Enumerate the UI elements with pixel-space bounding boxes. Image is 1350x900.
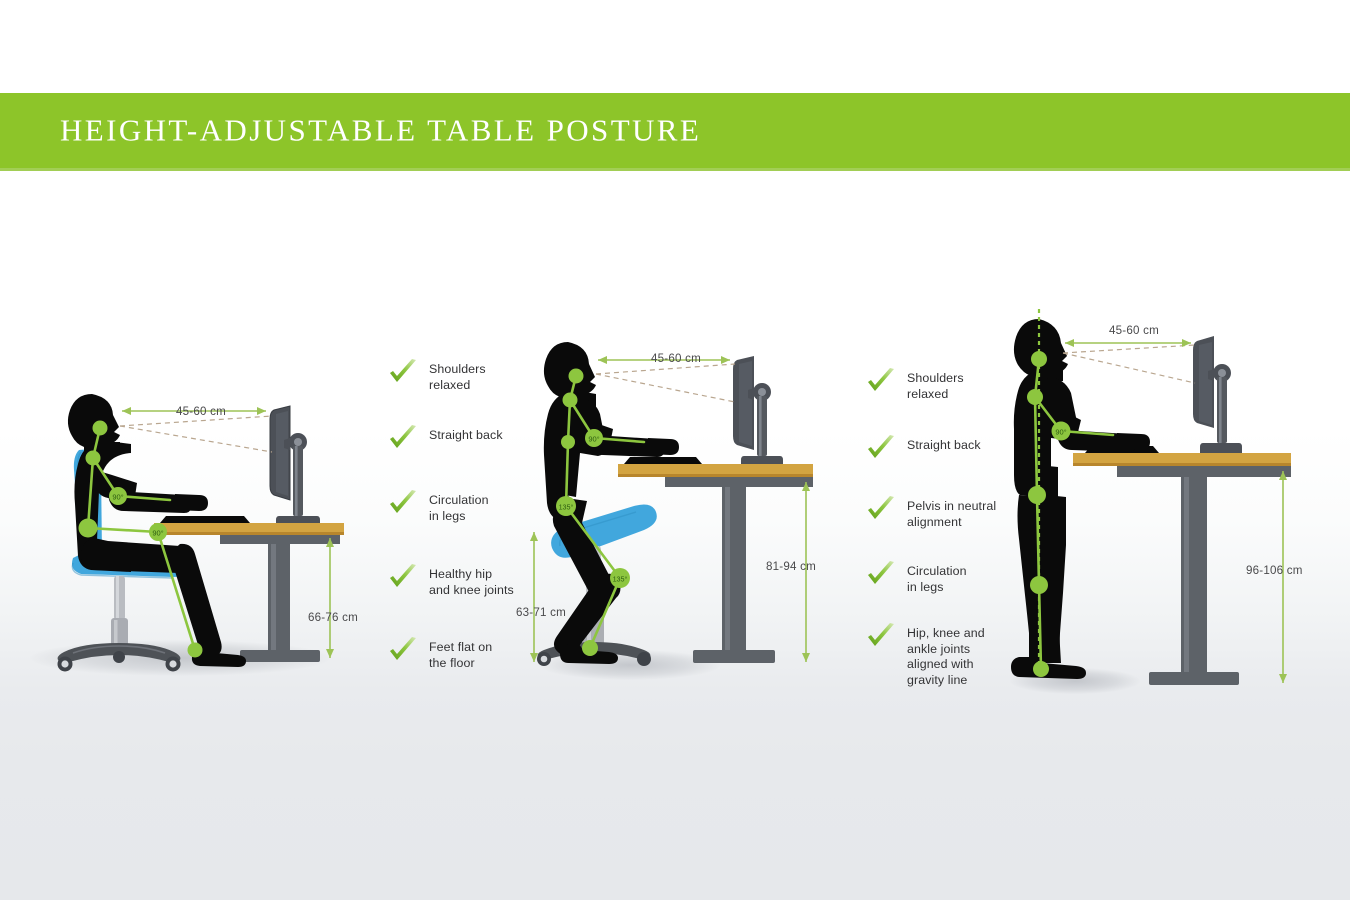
perched-posture-illustration: 90° 135° 135° bbox=[530, 330, 860, 675]
check-icon bbox=[866, 434, 896, 464]
check-label: Circulation in legs bbox=[429, 493, 489, 524]
check-icon bbox=[866, 560, 896, 590]
infographic-canvas: HEIGHT-ADJUSTABLE TABLE POSTURE bbox=[0, 0, 1350, 900]
check-item: Hip, knee and ankle joints aligned with … bbox=[866, 626, 985, 688]
check-icon bbox=[388, 636, 418, 666]
standing-desk-height-label: 96-106 cm bbox=[1246, 564, 1303, 577]
sight-lines bbox=[120, 416, 272, 452]
seated-distance-label: 45-60 cm bbox=[176, 405, 226, 418]
elbow-angle-label: 90° bbox=[112, 493, 123, 502]
check-label: Shoulders relaxed bbox=[907, 371, 964, 402]
check-icon bbox=[866, 367, 896, 397]
elbow-angle-label: 90° bbox=[588, 435, 599, 444]
knee-angle-label: 135° bbox=[613, 575, 628, 584]
check-icon bbox=[388, 358, 418, 388]
joint-mid-spine bbox=[561, 435, 575, 449]
standing-posture-panel: 90° 45-60 cm 9 bbox=[1000, 0, 1350, 900]
check-icon bbox=[388, 563, 418, 593]
check-label: Shoulders relaxed bbox=[429, 362, 486, 393]
joint-shoulder bbox=[1027, 389, 1043, 405]
perched-desk-height-label: 81-94 cm bbox=[766, 560, 816, 573]
checklist-perched: Shoulders relaxed Straight back Circulat… bbox=[388, 362, 518, 672]
standing-posture-illustration: 90° bbox=[1005, 305, 1345, 700]
check-item: Straight back bbox=[388, 428, 503, 454]
check-item: Straight back bbox=[866, 438, 981, 464]
hip-angle-label: 135° bbox=[559, 503, 574, 512]
check-item: Shoulders relaxed bbox=[388, 362, 486, 393]
check-item: Healthy hip and knee joints bbox=[388, 567, 514, 598]
check-item: Pelvis in neutral alignment bbox=[866, 499, 996, 530]
joint-shoulder bbox=[86, 451, 101, 466]
perched-distance-label: 45-60 cm bbox=[651, 352, 701, 365]
sight-lines bbox=[1063, 345, 1195, 383]
elbow-angle-label: 90° bbox=[1055, 428, 1066, 437]
knee-angle-label: 90° bbox=[152, 529, 163, 538]
perched-posture-panel: 90° 135° 135° bbox=[520, 0, 860, 900]
check-label: Circulation in legs bbox=[907, 564, 967, 595]
standing-distance-label: 45-60 cm bbox=[1109, 324, 1159, 337]
check-label: Feet flat on the floor bbox=[429, 640, 492, 671]
check-label: Straight back bbox=[907, 438, 981, 454]
checklist-standing: Shoulders relaxed Straight back Pelvis i… bbox=[866, 371, 1006, 691]
joint-head bbox=[93, 421, 108, 436]
check-item: Circulation in legs bbox=[388, 493, 489, 524]
check-label: Hip, knee and ankle joints aligned with … bbox=[907, 626, 985, 688]
check-item: Feet flat on the floor bbox=[388, 640, 492, 671]
seated-posture-panel: 90° 90° 45-60 cm bbox=[0, 0, 380, 900]
desk-height-arrow bbox=[326, 538, 334, 658]
joint-shoulder bbox=[563, 393, 578, 408]
perched-stool-height-label: 63-71 cm bbox=[516, 606, 566, 619]
stool-height-arrow bbox=[530, 532, 538, 662]
joint-head bbox=[569, 369, 584, 384]
joint-hip bbox=[1028, 486, 1046, 504]
check-label: Straight back bbox=[429, 428, 503, 444]
keyboard-icon bbox=[160, 516, 250, 523]
check-label: Pelvis in neutral alignment bbox=[907, 499, 996, 530]
check-icon bbox=[388, 489, 418, 519]
seated-desk-height-label: 66-76 cm bbox=[308, 611, 358, 624]
check-icon bbox=[866, 495, 896, 525]
sight-lines bbox=[596, 364, 735, 402]
seated-posture-illustration: 90° 90° bbox=[40, 380, 360, 680]
check-item: Shoulders relaxed bbox=[866, 371, 964, 402]
monitor-icon bbox=[733, 356, 783, 464]
desk-height-arrow bbox=[1279, 471, 1287, 683]
joint-ankle bbox=[188, 643, 203, 658]
keyboard-icon bbox=[624, 457, 702, 464]
joint-head bbox=[1031, 351, 1047, 367]
joint-ankle bbox=[582, 640, 598, 656]
monitor-icon bbox=[270, 406, 320, 523]
check-item: Circulation in legs bbox=[866, 564, 967, 595]
check-icon bbox=[866, 622, 896, 652]
joint-hip bbox=[79, 519, 98, 538]
check-icon bbox=[388, 424, 418, 454]
check-label: Healthy hip and knee joints bbox=[429, 567, 514, 598]
joint-ankle bbox=[1033, 661, 1049, 677]
joint-knee bbox=[1030, 576, 1048, 594]
monitor-icon bbox=[1193, 336, 1242, 453]
